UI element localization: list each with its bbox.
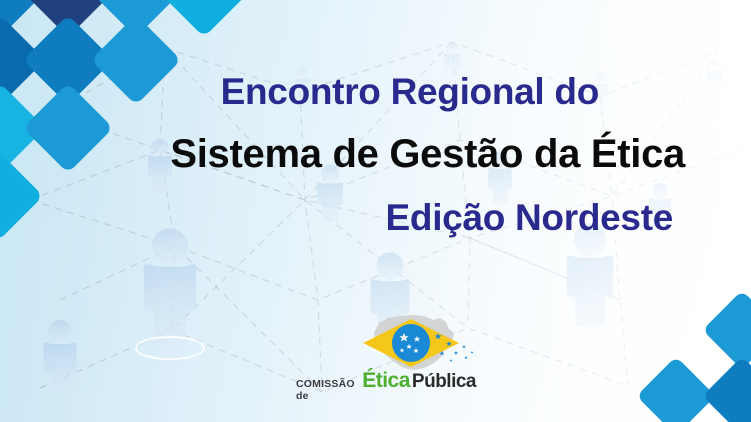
decorative-diamond xyxy=(636,356,715,422)
decorative-diamond xyxy=(702,290,751,369)
logo-prefix-text: COMISSÃO de xyxy=(296,378,358,402)
event-banner: Encontro Regional do Sistema de Gestão d… xyxy=(0,0,751,422)
flag-globe-icon xyxy=(392,324,430,362)
decorative-diamond xyxy=(0,151,43,242)
decorative-diamond xyxy=(159,0,250,37)
decorative-diamond xyxy=(91,15,182,106)
commission-logo: COMISSÃO de Ética Pública xyxy=(296,311,476,393)
decorative-diamond xyxy=(702,356,751,422)
brazil-flag-emblem-icon xyxy=(354,311,476,373)
logo-ethics-text: Ética xyxy=(362,369,410,393)
decorative-diamonds-top-left xyxy=(0,0,250,230)
decorative-diamond xyxy=(23,83,114,174)
logo-public-text: Pública xyxy=(412,371,476,393)
logo-wordmark: COMISSÃO de Ética Pública xyxy=(296,369,476,391)
decorative-diamonds-bottom-right xyxy=(551,272,751,422)
